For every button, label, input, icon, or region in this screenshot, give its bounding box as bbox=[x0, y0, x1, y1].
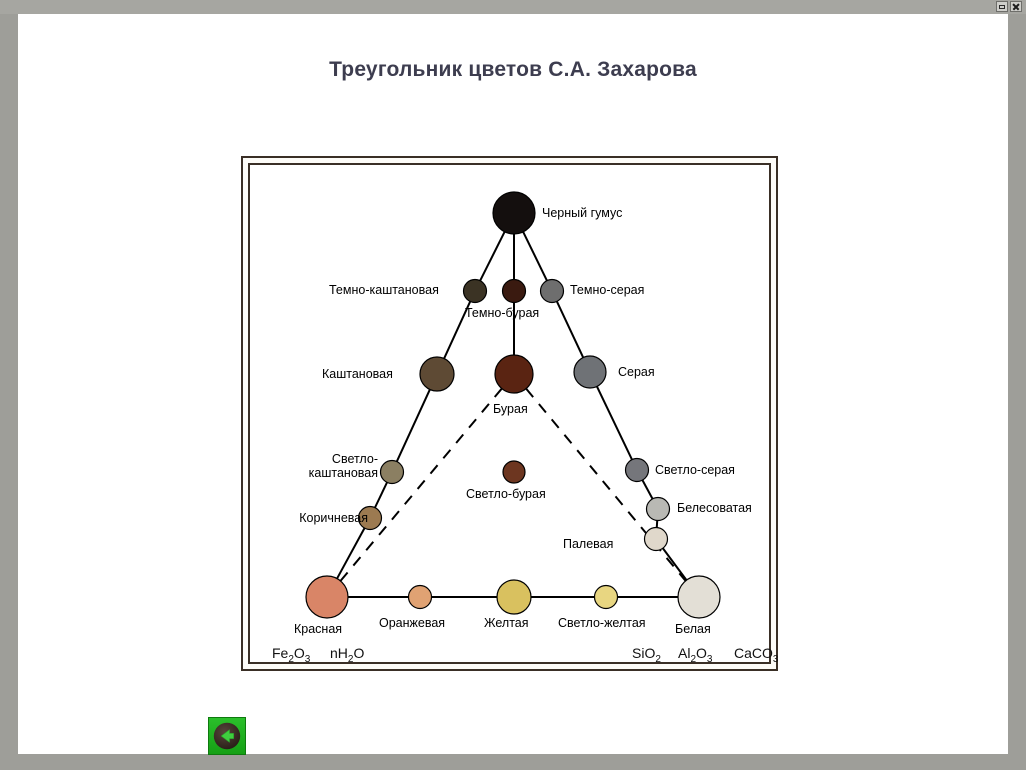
node-label-fawn: Палевая bbox=[563, 537, 613, 551]
page-title: Треугольник цветов С.А. Захарова bbox=[18, 58, 1008, 82]
node-label-whitish: Белесоватая bbox=[677, 501, 752, 515]
node-label-dark-chestnut: Темно-каштановая bbox=[329, 283, 439, 297]
node-circle-light-gray[interactable] bbox=[626, 459, 649, 482]
node-label-light-gray: Светло-серая bbox=[655, 463, 735, 477]
node-label-orange: Оранжевая bbox=[379, 616, 445, 630]
triangle-edge bbox=[480, 232, 504, 281]
back-arrow-icon bbox=[212, 721, 242, 751]
node-label-yellow: Желтая bbox=[484, 616, 529, 630]
triangle-edge bbox=[337, 528, 364, 578]
formula-caco3: CaCO3 bbox=[734, 645, 778, 665]
dashed-edge bbox=[526, 389, 685, 581]
node-label-light-brown: Светло-бурая bbox=[466, 487, 546, 501]
node-label-light-chestnut: Светло-каштановая bbox=[282, 452, 378, 480]
diagram-frame-inner-border: Черный гумусТемно-каштановаяТемно-бураяТ… bbox=[248, 163, 771, 664]
diagram-frame: Черный гумусТемно-каштановаяТемно-бураяТ… bbox=[241, 156, 778, 671]
application-window: Треугольник цветов С.А. Захарова Черный … bbox=[0, 0, 1026, 770]
node-label-dark-gray: Темно-серая bbox=[570, 283, 644, 297]
node-circle-dark-gray[interactable] bbox=[541, 280, 564, 303]
node-circle-light-brown[interactable] bbox=[503, 461, 525, 483]
triangle-edge bbox=[375, 482, 387, 507]
node-circle-whitish[interactable] bbox=[647, 498, 670, 521]
triangle-edge bbox=[663, 548, 687, 580]
node-circle-light-chestnut[interactable] bbox=[381, 461, 404, 484]
node-circle-black-humus[interactable] bbox=[493, 192, 535, 234]
diagram-frame-outer-border: Черный гумусТемно-каштановаяТемно-бураяТ… bbox=[241, 156, 778, 671]
triangle-edge bbox=[523, 232, 547, 281]
triangle-edge bbox=[557, 301, 583, 357]
node-circle-dark-chestnut[interactable] bbox=[464, 280, 487, 303]
window-titlebar[interactable] bbox=[0, 0, 1026, 14]
formula-nh2o: nH2O bbox=[330, 645, 364, 665]
node-circle-yellow[interactable] bbox=[497, 580, 531, 614]
node-label-brownish: Коричневая bbox=[272, 511, 368, 525]
node-circle-orange[interactable] bbox=[409, 586, 432, 609]
dashed-edge bbox=[340, 389, 501, 581]
node-label-chestnut: Каштановая bbox=[322, 367, 393, 381]
close-window-icon[interactable] bbox=[1010, 1, 1022, 12]
node-label-black-humus: Черный гумус bbox=[542, 206, 622, 220]
node-circle-gray[interactable] bbox=[574, 356, 606, 388]
node-circle-fawn[interactable] bbox=[645, 528, 668, 551]
node-circle-red[interactable] bbox=[306, 576, 348, 618]
node-label-gray: Серая bbox=[618, 365, 655, 379]
formula-fe2o3: Fe2O3 bbox=[272, 645, 310, 665]
slide-page: Треугольник цветов С.А. Захарова Черный … bbox=[18, 14, 1008, 754]
back-button[interactable] bbox=[208, 717, 246, 755]
formula-sio2: SiO2 bbox=[632, 645, 661, 665]
node-label-red: Красная bbox=[294, 622, 342, 636]
node-circle-white[interactable] bbox=[678, 576, 720, 618]
node-label-white: Белая bbox=[675, 622, 711, 636]
node-label-light-yellow: Светло-желтая bbox=[558, 616, 646, 630]
triangle-edge bbox=[642, 480, 652, 499]
formula-al2o3: Al2O3 bbox=[678, 645, 712, 665]
node-circle-light-yellow[interactable] bbox=[595, 586, 618, 609]
restore-window-icon[interactable] bbox=[996, 1, 1008, 12]
color-triangle-diagram bbox=[250, 165, 787, 680]
window-controls bbox=[996, 1, 1022, 12]
inner-dashed-triangle bbox=[340, 389, 685, 581]
triangle-edge bbox=[397, 389, 430, 461]
node-label-dark-brown: Темно-бурая bbox=[465, 306, 539, 320]
node-circle-brown[interactable] bbox=[495, 355, 533, 393]
node-label-brown: Бурая bbox=[493, 402, 528, 416]
node-circle-chestnut[interactable] bbox=[420, 357, 454, 391]
node-circle-dark-brown[interactable] bbox=[503, 280, 526, 303]
triangle-edge bbox=[597, 386, 632, 459]
